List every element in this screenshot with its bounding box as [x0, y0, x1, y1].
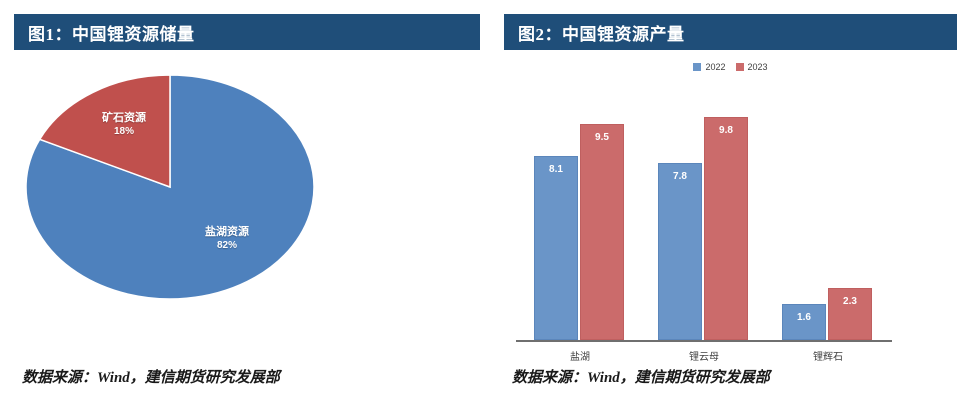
pie-chart: 盐湖资源 82% 矿石资源 18% — [24, 74, 316, 300]
pie-slice-name: 矿石资源 — [74, 112, 174, 126]
figure-panel-1: 图1：中国锂资源储量 盐湖资源 82% 矿石资源 18% 数据来源：Wind，建… — [14, 0, 480, 405]
bar-value-label: 1.6 — [783, 312, 825, 323]
figure-2-title: 图2：中国锂资源产量 — [504, 14, 957, 50]
pie-slice-label-ore: 矿石资源 18% — [74, 112, 174, 138]
category-label: 锂辉石 — [782, 348, 874, 363]
bar-value-label: 7.8 — [659, 171, 701, 182]
bar-group: 1.62.3 — [782, 90, 874, 340]
bar-value-label: 9.8 — [705, 125, 747, 136]
bar[interactable]: 8.1 — [534, 156, 578, 340]
bar-chart: 20222023 8.19.5盐湖7.89.8锂云母1.62.3锂辉石 — [504, 56, 957, 347]
figure-1-source: 数据来源：Wind，建信期货研究发展部 — [22, 366, 280, 387]
bar-value-label: 9.5 — [581, 132, 623, 143]
pie-slice-percent: 18% — [74, 126, 174, 139]
pie-chart-svg — [24, 74, 316, 300]
legend-label: 2022 — [705, 62, 725, 72]
bar[interactable]: 9.8 — [704, 117, 748, 340]
bar-value-label: 8.1 — [535, 164, 577, 175]
bar-value-label: 2.3 — [829, 296, 871, 307]
pie-slice-percent: 82% — [172, 240, 282, 253]
figure-1-body: 盐湖资源 82% 矿石资源 18% — [14, 56, 480, 347]
pie-slice-name: 盐湖资源 — [172, 226, 282, 240]
bar-group: 7.89.8 — [658, 90, 750, 340]
legend-swatch-icon — [736, 63, 744, 71]
figure-1-title: 图1：中国锂资源储量 — [14, 14, 480, 50]
figure-panel-2: 图2：中国锂资源产量 20222023 8.19.5盐湖7.89.8锂云母1.6… — [504, 0, 957, 405]
category-label: 盐湖 — [534, 348, 626, 363]
bar[interactable]: 9.5 — [580, 124, 624, 340]
figure-2-source: 数据来源：Wind，建信期货研究发展部 — [512, 366, 770, 387]
legend-swatch-icon — [693, 63, 701, 71]
category-label: 锂云母 — [658, 348, 750, 363]
pie-slice-label-salt-lake: 盐湖资源 82% — [172, 226, 282, 252]
legend-entry[interactable]: 2023 — [736, 62, 768, 72]
bar-group: 8.19.5 — [534, 90, 626, 340]
bar[interactable]: 2.3 — [828, 288, 872, 340]
legend-label: 2023 — [748, 62, 768, 72]
figure-2-body: 20222023 8.19.5盐湖7.89.8锂云母1.62.3锂辉石 — [504, 56, 957, 347]
pie-slices — [26, 75, 314, 299]
bar-chart-axis-line — [516, 340, 892, 342]
bar-chart-legend: 20222023 — [504, 62, 957, 72]
bar[interactable]: 7.8 — [658, 163, 702, 340]
bar[interactable]: 1.6 — [782, 304, 826, 340]
legend-entry[interactable]: 2022 — [693, 62, 725, 72]
